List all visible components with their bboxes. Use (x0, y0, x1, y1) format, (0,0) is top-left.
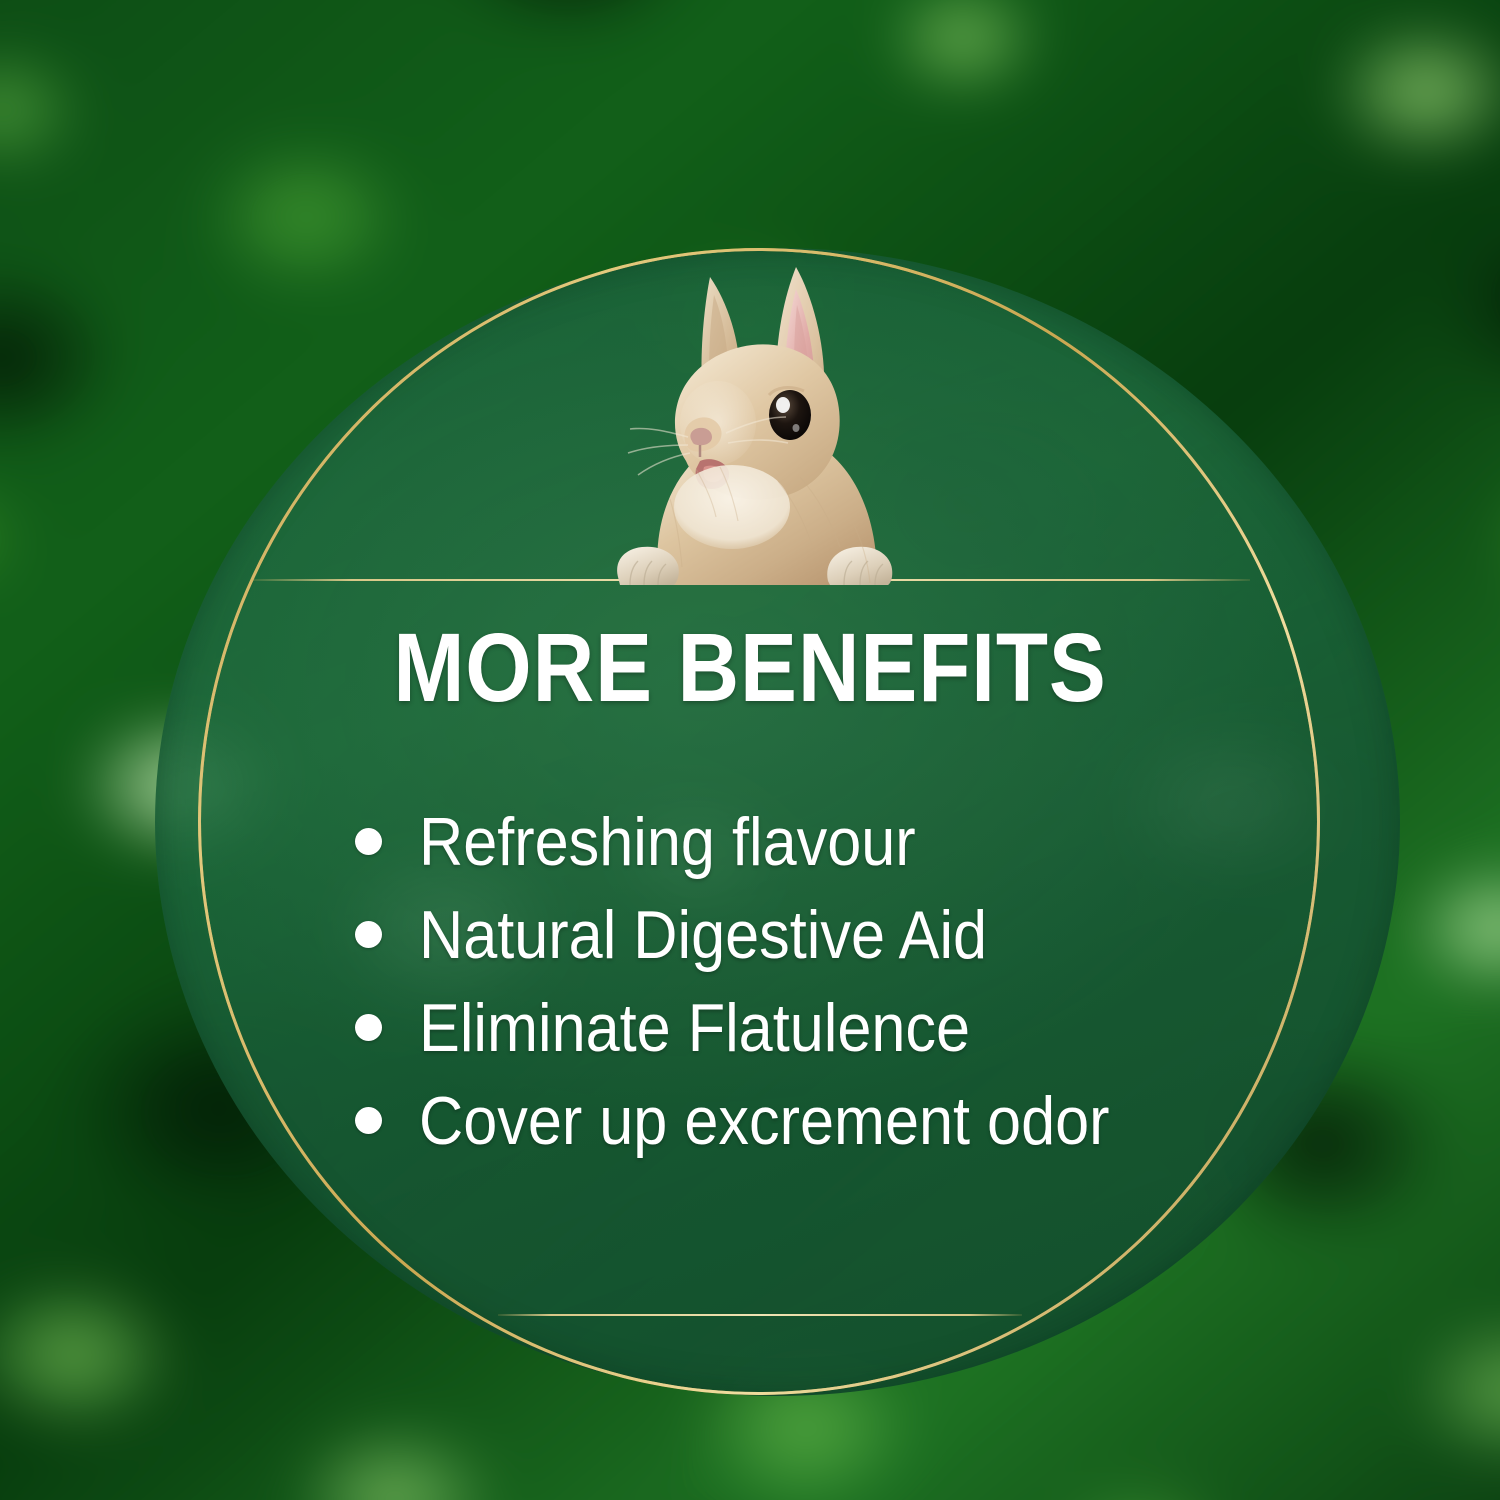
benefit-label: Cover up excrement odor (419, 1087, 1110, 1155)
list-item: Cover up excrement odor (355, 1074, 1305, 1167)
list-item: Eliminate Flatulence (355, 981, 1305, 1074)
bullet-dot-icon (355, 828, 382, 855)
bullet-dot-icon (355, 921, 382, 948)
promo-graphic: MORE BENEFITS Refreshing flavour Natural… (0, 0, 1500, 1500)
benefit-label: Eliminate Flatulence (419, 994, 970, 1062)
gold-divider-line-bottom (498, 1314, 1022, 1316)
page-title: MORE BENEFITS (90, 619, 1410, 716)
benefit-label: Refreshing flavour (419, 808, 916, 876)
list-item: Refreshing flavour (355, 795, 1305, 888)
bullet-dot-icon (355, 1107, 382, 1134)
benefits-list: Refreshing flavour Natural Digestive Aid… (355, 795, 1305, 1167)
benefit-label: Natural Digestive Aid (419, 901, 987, 969)
rabbit-illustration (600, 255, 920, 585)
bullet-dot-icon (355, 1014, 382, 1041)
list-item: Natural Digestive Aid (355, 888, 1305, 981)
